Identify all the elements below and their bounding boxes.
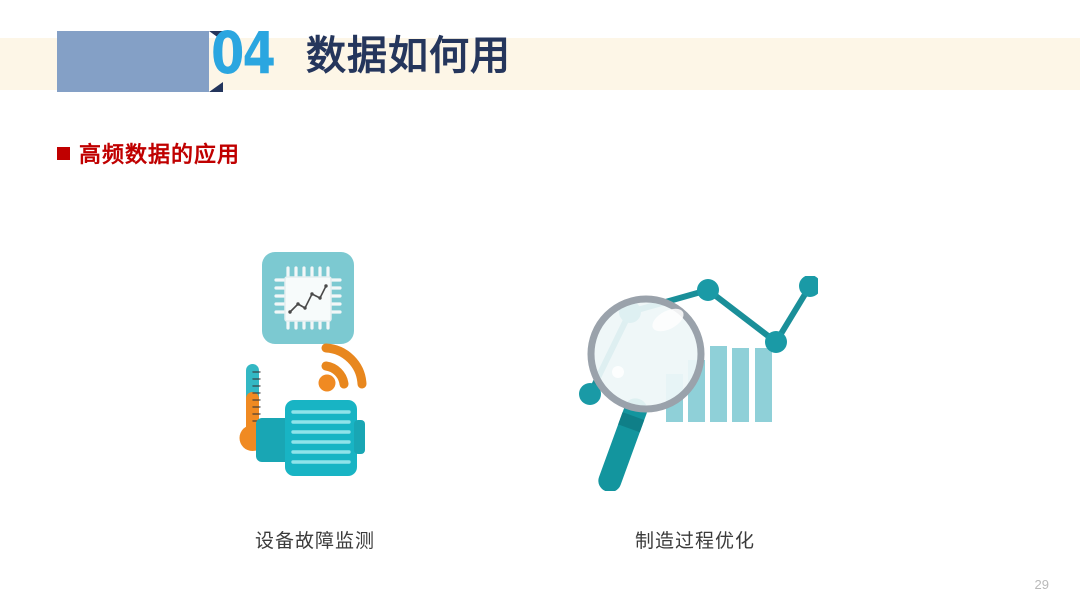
motor-icon (256, 400, 365, 476)
caption-equipment-fault-monitoring: 设备故障监测 (185, 526, 445, 553)
page-title: 数据如何用 (306, 34, 511, 78)
subheading-label: 高频数据的应用 (79, 137, 240, 169)
figure-equipment-fault-monitoring (230, 252, 400, 492)
chip-screen-icon (285, 277, 331, 321)
figure-manufacturing-process-optimization (568, 276, 818, 491)
slide-header: 04 数据如何用 (0, 0, 1080, 120)
wifi-dot-icon (319, 375, 336, 392)
square-bullet-icon (57, 147, 70, 160)
slide-canvas: 04 数据如何用 高频数据的应用 (0, 0, 1080, 608)
sensor-chip-motor-wifi-illustration (230, 252, 400, 492)
section-number: 04 (211, 24, 274, 82)
subheading: 高频数据的应用 (57, 137, 240, 169)
ribbon-block (57, 31, 209, 92)
magnifier-chart-illustration (568, 276, 818, 491)
caption-manufacturing-process-optimization: 制造过程优化 (565, 526, 825, 553)
page-number: 29 (1035, 577, 1049, 592)
